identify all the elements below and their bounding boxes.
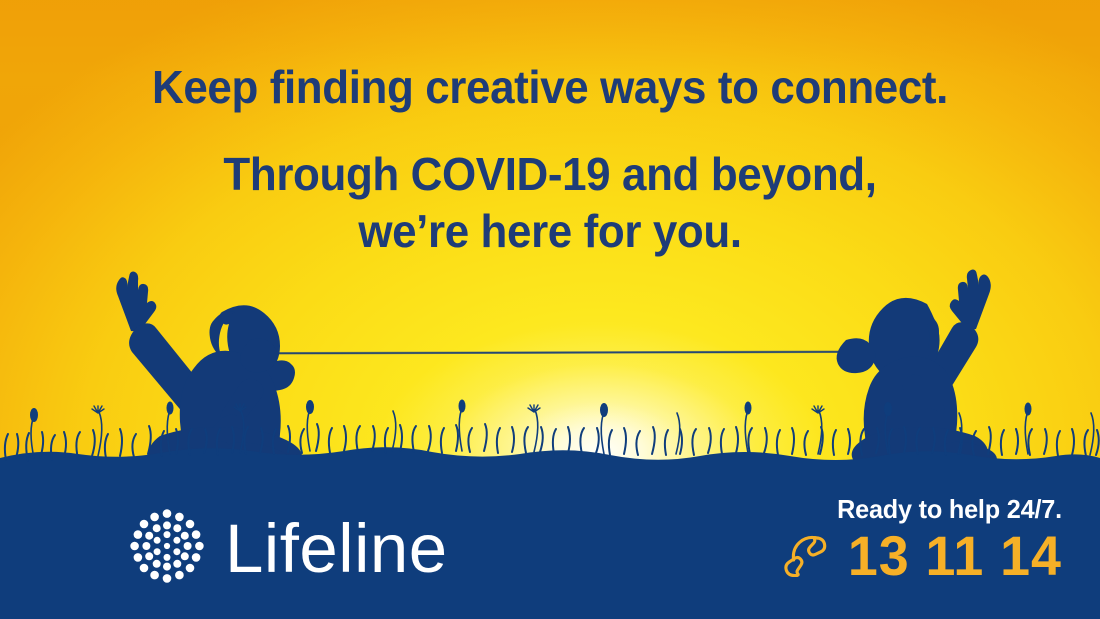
phone-number-row[interactable]: 13 11 14 xyxy=(780,528,1062,584)
headline-copy-block: Keep finding creative ways to connect. T… xyxy=(0,0,1100,290)
phone-number: 13 11 14 xyxy=(848,528,1062,584)
availability-text: Ready to help 24/7. xyxy=(789,494,1062,524)
phone-handset-icon xyxy=(780,534,830,584)
page-title: Keep finding creative ways to connect. xyxy=(25,62,1076,112)
lifeline-covid-awareness-poster: Keep finding creative ways to connect. T… xyxy=(0,0,1100,619)
lifeline-spiral-dots-icon xyxy=(126,505,208,587)
contact-block: Ready to help 24/7. 13 11 14 xyxy=(780,494,1062,584)
subhead-line-2: we’re here for you. xyxy=(25,205,1076,258)
lifeline-logo[interactable]: Lifeline xyxy=(126,505,448,587)
subhead-line-1: Through COVID-19 and beyond, xyxy=(25,148,1076,201)
lifeline-wordmark: Lifeline xyxy=(225,514,448,583)
